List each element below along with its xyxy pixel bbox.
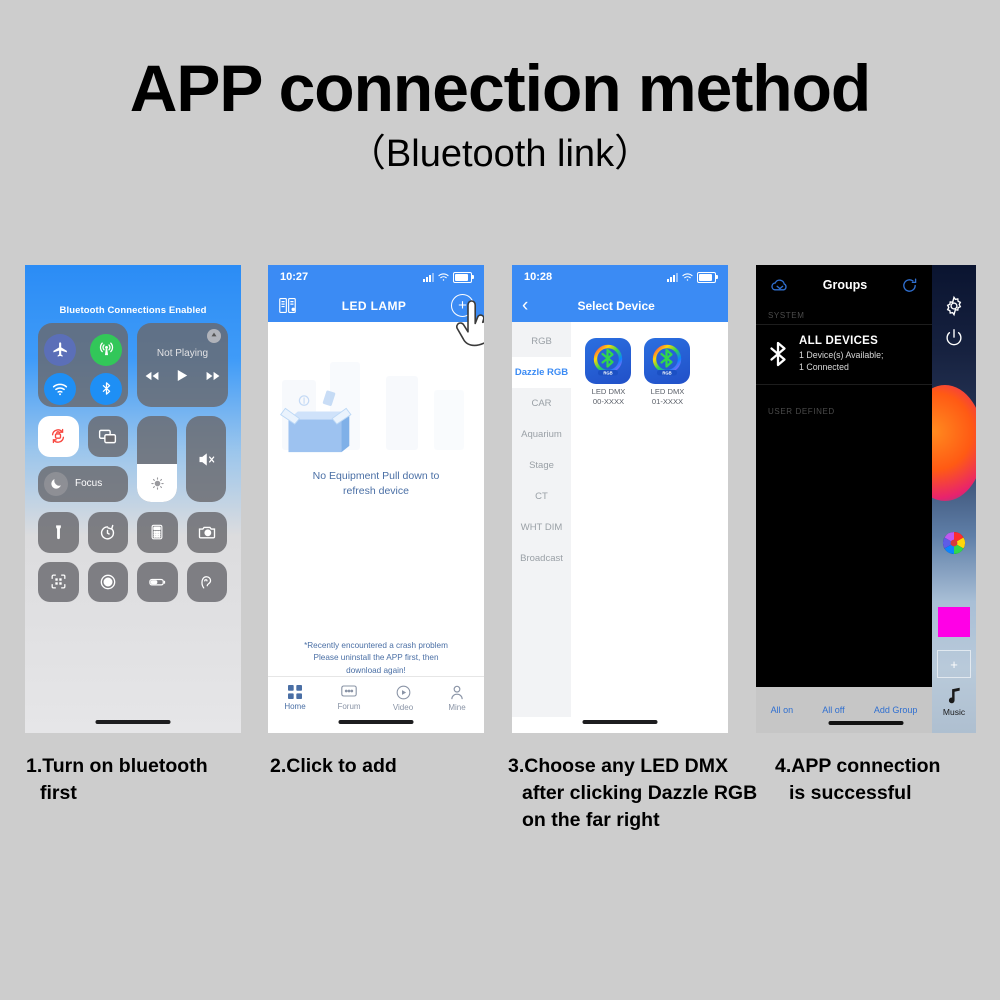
status-bar: 10:28: [512, 265, 728, 289]
connectivity-tile[interactable]: [38, 323, 128, 407]
empty-state-line1: No Equipment Pull down to: [268, 469, 484, 484]
page-title: APP connection method: [0, 50, 1000, 126]
tab-video-label: Video: [393, 703, 413, 712]
media-status: Not Playing: [157, 348, 208, 359]
airplane-icon[interactable]: [44, 334, 76, 366]
select-device-navbar: ‹ Select Device: [512, 289, 728, 322]
all-off-button[interactable]: All off: [822, 705, 844, 715]
groups-navbar: Groups: [756, 265, 932, 305]
caption-3-line2: after clicking Dazzle RGB: [508, 780, 758, 807]
timer-icon[interactable]: [88, 512, 129, 553]
rotation-lock-icon[interactable]: [38, 416, 79, 457]
wifi-icon: [682, 273, 693, 282]
all-on-button[interactable]: All on: [771, 705, 794, 715]
tab-mine-label: Mine: [448, 703, 465, 712]
category-list: RGB Dazzle RGB CAR Aquarium Stage CT WHT…: [512, 322, 571, 717]
group-subtitle-line2: 1 Connected: [799, 361, 883, 373]
groups-title: Groups: [823, 278, 867, 292]
phone-screenshot-4: + Music Groups: [756, 265, 976, 733]
caption-4-line2: is successful: [775, 780, 990, 807]
device-item[interactable]: RGB LED DMX 00-XXXX: [585, 338, 632, 717]
focus-toggle[interactable]: Focus: [38, 466, 128, 502]
section-label-user-defined: USER DEFINED: [756, 385, 932, 420]
groups-main: Groups SYSTEM ALL DEVICES 1 Device(s) Av…: [756, 265, 932, 733]
tab-home-label: Home: [284, 702, 305, 711]
signal-icon: [423, 273, 434, 282]
device-list: RGB LED DMX 00-XXXX RGB: [571, 322, 728, 717]
battery-icon: [453, 272, 472, 283]
caption-4-line1: 4.APP connection: [775, 755, 940, 777]
chat-icon: [341, 685, 357, 699]
status-bar: 10:27: [268, 265, 484, 289]
app-title: LED LAMP: [342, 299, 407, 313]
airplay-icon[interactable]: [207, 329, 221, 343]
play-icon[interactable]: [177, 369, 188, 382]
device-name-line1: LED DMX: [644, 387, 691, 397]
color-wheel-icon[interactable]: [942, 531, 966, 555]
tab-forum[interactable]: Forum: [322, 685, 376, 711]
signal-icon: [667, 273, 678, 282]
empty-state-line2: refresh device: [268, 484, 484, 499]
home-indicator: [583, 720, 658, 724]
caption-step-3: 3.Choose any LED DMX after clicking Dazz…: [508, 753, 758, 834]
caption-step-2: 2.Click to add: [270, 753, 500, 780]
color-swatch[interactable]: [938, 607, 970, 637]
wallpaper-decoration: [932, 385, 976, 501]
app-navbar: LED LAMP +: [268, 289, 484, 322]
category-stage[interactable]: Stage: [512, 450, 571, 481]
groups-bottom-bar: All on All off Add Group: [756, 687, 932, 733]
side-control-panel: + Music: [932, 265, 976, 733]
caption-step-4: 4.APP connection is successful: [775, 753, 990, 807]
caption-1-line1: 1.Turn on bluetooth: [26, 755, 208, 777]
add-color-button[interactable]: +: [937, 650, 971, 678]
home-indicator: [829, 721, 904, 725]
low-power-icon[interactable]: [137, 562, 178, 603]
person-icon: [450, 685, 464, 700]
category-car[interactable]: CAR: [512, 388, 571, 419]
cloud-icon[interactable]: [770, 278, 789, 293]
home-indicator: [96, 720, 171, 724]
bluetooth-icon[interactable]: [90, 373, 122, 405]
category-broadcast[interactable]: Broadcast: [512, 543, 571, 574]
category-dazzle-rgb[interactable]: Dazzle RGB: [512, 357, 571, 388]
group-title: ALL DEVICES: [799, 335, 883, 347]
moon-icon: [44, 472, 68, 496]
crash-notice: *Recently encountered a crash problem Pl…: [268, 640, 484, 677]
tab-mine[interactable]: Mine: [430, 685, 484, 712]
add-group-button[interactable]: Add Group: [874, 705, 918, 715]
qr-scanner-icon[interactable]: [38, 562, 79, 603]
music-label: Music: [943, 707, 965, 717]
tab-home[interactable]: Home: [268, 685, 322, 711]
caption-1-line2: first: [26, 780, 256, 807]
phone-screenshot-3: 10:28 ‹ Select Device RGB Dazzle RGB CAR…: [512, 265, 728, 733]
phone-screenshot-1: Bluetooth Connections Enabled: [25, 265, 241, 733]
bluetooth-banner: Bluetooth Connections Enabled: [25, 305, 241, 316]
caption-step-1: 1.Turn on bluetooth first: [26, 753, 256, 807]
play-circle-icon: [396, 685, 411, 700]
group-subtitle-line1: 1 Device(s) Available;: [799, 349, 883, 361]
category-aquarium[interactable]: Aquarium: [512, 419, 571, 450]
page-subtitle: （Bluetooth link）: [0, 122, 1000, 177]
antenna-icon[interactable]: [90, 334, 122, 366]
screen-mirroring-icon[interactable]: [88, 416, 129, 457]
svg-text:RGB: RGB: [603, 370, 612, 375]
led-dmx-app-icon: RGB: [585, 338, 631, 384]
music-icon[interactable]: [946, 686, 963, 705]
svg-text:RGB: RGB: [662, 370, 671, 375]
led-dmx-app-icon: RGB: [644, 338, 690, 384]
wifi-icon: [438, 273, 449, 282]
control-center: Bluetooth Connections Enabled: [25, 265, 241, 733]
open-box-icon: [268, 385, 362, 463]
caption-3-line3: on the far right: [508, 807, 758, 834]
panels-icon[interactable]: [278, 297, 297, 314]
hearing-icon[interactable]: [187, 562, 228, 603]
bluetooth-icon: [768, 341, 788, 367]
status-time: 10:28: [524, 271, 552, 283]
flashlight-icon[interactable]: [38, 512, 79, 553]
gear-icon[interactable]: [943, 295, 965, 317]
category-ct[interactable]: CT: [512, 481, 571, 512]
grid-icon: [288, 685, 302, 699]
hand-pointer-icon: [454, 299, 484, 355]
caption-3-line1: 3.Choose any LED DMX: [508, 755, 728, 777]
forward-icon[interactable]: [206, 371, 220, 381]
tab-video[interactable]: Video: [376, 685, 430, 712]
select-device-title: Select Device: [528, 299, 704, 313]
home-indicator: [339, 720, 414, 724]
category-wht-dim[interactable]: WHT DIM: [512, 512, 571, 543]
group-row-all-devices[interactable]: ALL DEVICES 1 Device(s) Available; 1 Con…: [756, 324, 932, 385]
volume-slider[interactable]: [186, 416, 226, 502]
power-icon[interactable]: [943, 327, 965, 349]
device-item[interactable]: RGB LED DMX 01-XXXX: [644, 338, 691, 717]
caption-2-line1: 2.Click to add: [270, 755, 397, 777]
camera-icon[interactable]: [187, 512, 228, 553]
wifi-icon[interactable]: [44, 373, 76, 405]
battery-icon: [697, 272, 716, 283]
refresh-icon[interactable]: [901, 277, 918, 294]
device-name-line2: 00-XXXX: [585, 397, 632, 407]
crash-notice-line1: *Recently encountered a crash problem: [268, 640, 484, 652]
brightness-slider[interactable]: [137, 416, 177, 502]
category-rgb[interactable]: RGB: [512, 326, 571, 357]
device-name-line2: 01-XXXX: [644, 397, 691, 407]
crash-notice-line2: Please uninstall the APP first, then: [268, 652, 484, 664]
focus-label: Focus: [75, 478, 102, 489]
media-tile[interactable]: Not Playing: [137, 323, 228, 407]
empty-state: No Equipment Pull down to refresh device: [268, 385, 484, 499]
calculator-icon[interactable]: [137, 512, 178, 553]
section-label-system: SYSTEM: [756, 305, 932, 324]
device-name-line1: LED DMX: [585, 387, 632, 397]
phone-screenshot-2: 10:27 LED LAMP +: [268, 265, 484, 733]
status-time: 10:27: [280, 271, 308, 283]
tab-bar: Home Forum Video Mine: [268, 676, 484, 719]
tab-forum-label: Forum: [337, 702, 360, 711]
rewind-icon[interactable]: [145, 371, 159, 381]
screen-record-icon[interactable]: [88, 562, 129, 603]
